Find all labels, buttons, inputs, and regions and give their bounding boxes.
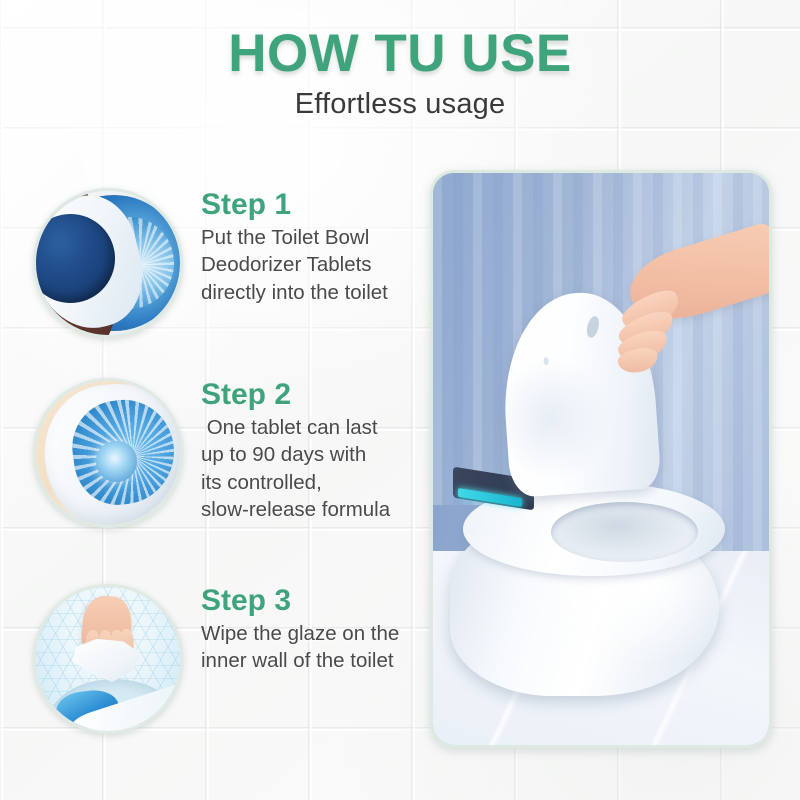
- step-2-body-line-4: slow-release formula: [201, 496, 453, 523]
- step-3-body-line-1: Wipe the glaze on the: [201, 620, 453, 647]
- step-2-image: [33, 378, 183, 528]
- step-2-body-line-3: its controlled,: [201, 469, 453, 496]
- bowl-tablet-illustration: [36, 191, 180, 335]
- header: HOW TU USE Effortless usage: [0, 26, 800, 121]
- step-1-image: [33, 188, 183, 338]
- toilet-lid-slot: [584, 315, 600, 339]
- step-3-image: [33, 584, 183, 734]
- toilet-lid-vent: [543, 357, 548, 365]
- step-2-body: One tablet can last up to 90 days with i…: [201, 414, 453, 523]
- step-1-body-line-3: directly into the toilet: [201, 279, 453, 306]
- page-title: HOW TU USE: [0, 26, 800, 82]
- step-3-body-line-2: inner wall of the toilet: [201, 647, 453, 674]
- step-3-body: Wipe the glaze on the inner wall of the …: [201, 620, 453, 675]
- step-2-body-line-1: One tablet can last: [201, 414, 453, 441]
- page-subtitle: Effortless usage: [0, 88, 800, 121]
- circle2-vortex-core: [96, 441, 136, 481]
- step-3-text-block: Step 3 Wipe the glaze on the inner wall …: [201, 584, 453, 675]
- bowl-vortex-illustration: [36, 381, 180, 525]
- step-2-body-line-2: up to 90 days with: [201, 441, 453, 468]
- toilet-bowl-opening: [551, 502, 699, 562]
- hand-wiping-illustration: [36, 587, 180, 731]
- step-1-text-block: Step 1 Put the Toilet Bowl Deodorizer Ta…: [201, 188, 453, 306]
- step-1-body-line-2: Deodorizer Tablets: [201, 251, 453, 278]
- step-1-body: Put the Toilet Bowl Deodorizer Tablets d…: [201, 224, 453, 306]
- step-1-label: Step 1: [201, 188, 453, 221]
- step-1-body-line-1: Put the Toilet Bowl: [201, 224, 453, 251]
- hero-product-image: [430, 170, 772, 748]
- step-2-text-block: Step 2 One tablet can last up to 90 days…: [201, 378, 453, 523]
- step-3-label: Step 3: [201, 584, 453, 617]
- step-2-label: Step 2: [201, 378, 453, 411]
